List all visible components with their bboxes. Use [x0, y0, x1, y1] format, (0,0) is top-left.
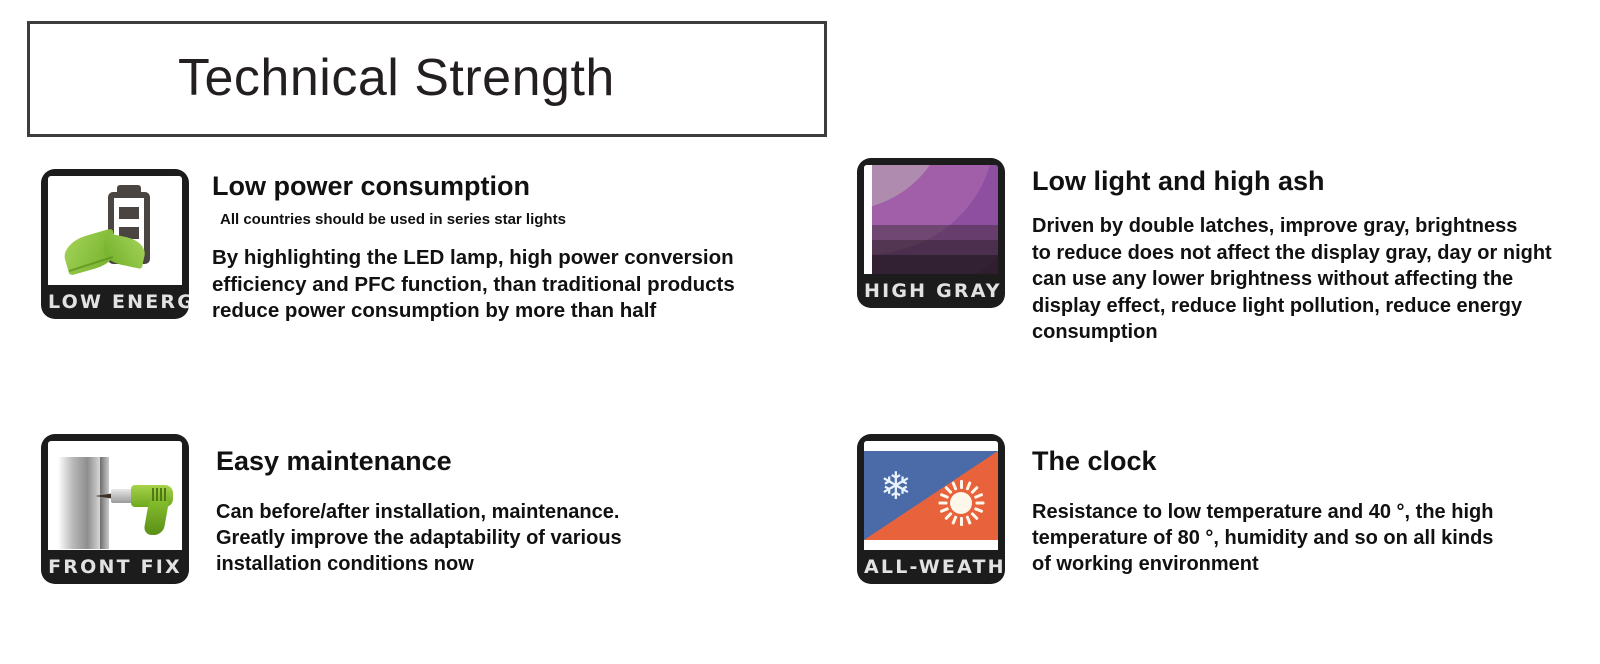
panel-edge-icon: [100, 457, 109, 549]
high-gray-icon-art: [864, 165, 998, 274]
battery-bar-1: [119, 207, 139, 219]
feature-heading-all-weather: The clock: [1032, 446, 1493, 477]
feature-item-high-gray: HIGH GRAY Low light and high ash Driven …: [857, 158, 1552, 346]
feature-heading-front-fix: Easy maintenance: [216, 446, 622, 477]
feature-item-all-weather: ❄ ALL-WEATHER The clock: [857, 434, 1493, 584]
low-energy-icon: LOW ENERGY: [41, 169, 189, 319]
front-fix-icon: FRONT FIX: [41, 434, 189, 584]
feature-heading-high-gray: Low light and high ash: [1032, 166, 1552, 197]
all-weather-icon-art: ❄: [864, 441, 998, 550]
gray-band-1: [872, 225, 998, 240]
all-weather-icon: ❄ ALL-WEATHER: [857, 434, 1005, 584]
feature-subtitle-low-power: All countries should be used in series s…: [220, 211, 735, 228]
low-energy-icon-caption: LOW ENERGY: [48, 285, 182, 319]
feature-item-low-power: LOW ENERGY Low power consumption All cou…: [41, 169, 735, 325]
all-weather-icon-caption: ALL-WEATHER: [864, 550, 998, 584]
feature-body-front-fix: Can before/after installation, maintenan…: [216, 499, 622, 577]
page-title-box: Technical Strength: [27, 21, 827, 137]
panel-icon: [58, 457, 100, 549]
snowflake-icon: ❄: [880, 467, 912, 505]
gray-gradient-art: [872, 165, 998, 274]
feature-heading-low-power: Low power consumption: [212, 171, 735, 202]
high-gray-icon-caption: HIGH GRAY: [864, 274, 998, 308]
weather-split-art: ❄: [864, 441, 998, 550]
feature-text-high-gray: Low light and high ash Driven by double …: [1032, 166, 1552, 346]
gray-band-3: [872, 255, 998, 274]
weather-inner: ❄: [864, 451, 998, 540]
feature-text-all-weather: The clock Resistance to low temperature …: [1032, 446, 1493, 577]
sun-icon: [938, 480, 984, 526]
gray-left-strip: [864, 165, 872, 274]
feature-body-all-weather: Resistance to low temperature and 40 °, …: [1032, 499, 1493, 577]
feature-text-front-fix: Easy maintenance Can before/after instal…: [216, 446, 622, 577]
gray-band-2: [872, 240, 998, 255]
low-energy-icon-art: [48, 176, 182, 285]
feature-body-low-power: By highlighting the LED lamp, high power…: [212, 245, 735, 325]
front-fix-icon-caption: FRONT FIX: [48, 550, 182, 584]
feature-item-front-fix: FRONT FIX Easy maintenance Can before/af…: [41, 434, 622, 584]
front-fix-icon-art: [48, 441, 182, 550]
high-gray-icon: HIGH GRAY: [857, 158, 1005, 308]
feature-text-low-power: Low power consumption All countries shou…: [212, 171, 735, 325]
page-title: Technical Strength: [178, 48, 615, 108]
drill-vent-icon: [152, 488, 166, 502]
feature-body-high-gray: Driven by double latches, improve gray, …: [1032, 213, 1552, 346]
